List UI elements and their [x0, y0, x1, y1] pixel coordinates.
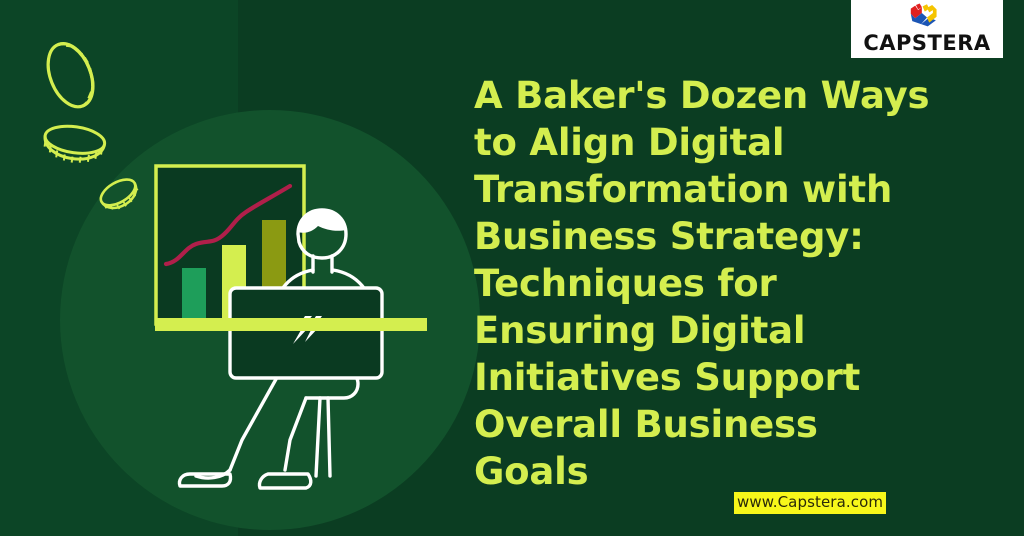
logo-wordmark: CAPSTERA	[863, 31, 990, 55]
capstera-logo[interactable]: CAPSTERA	[851, 0, 1003, 58]
illustration-person-at-laptop	[130, 140, 460, 490]
coin-large-icon	[40, 28, 112, 118]
coin-medium-icon	[36, 118, 116, 174]
banner-canvas: A Baker's Dozen Ways to Align Digital Tr…	[0, 0, 1024, 536]
laptop	[230, 288, 382, 378]
website-url-badge[interactable]: www.Capstera.com	[734, 492, 886, 514]
page-title: A Baker's Dozen Ways to Align Digital Tr…	[474, 72, 944, 495]
desk-bar	[155, 318, 427, 331]
capstera-cube-icon	[904, 2, 950, 30]
